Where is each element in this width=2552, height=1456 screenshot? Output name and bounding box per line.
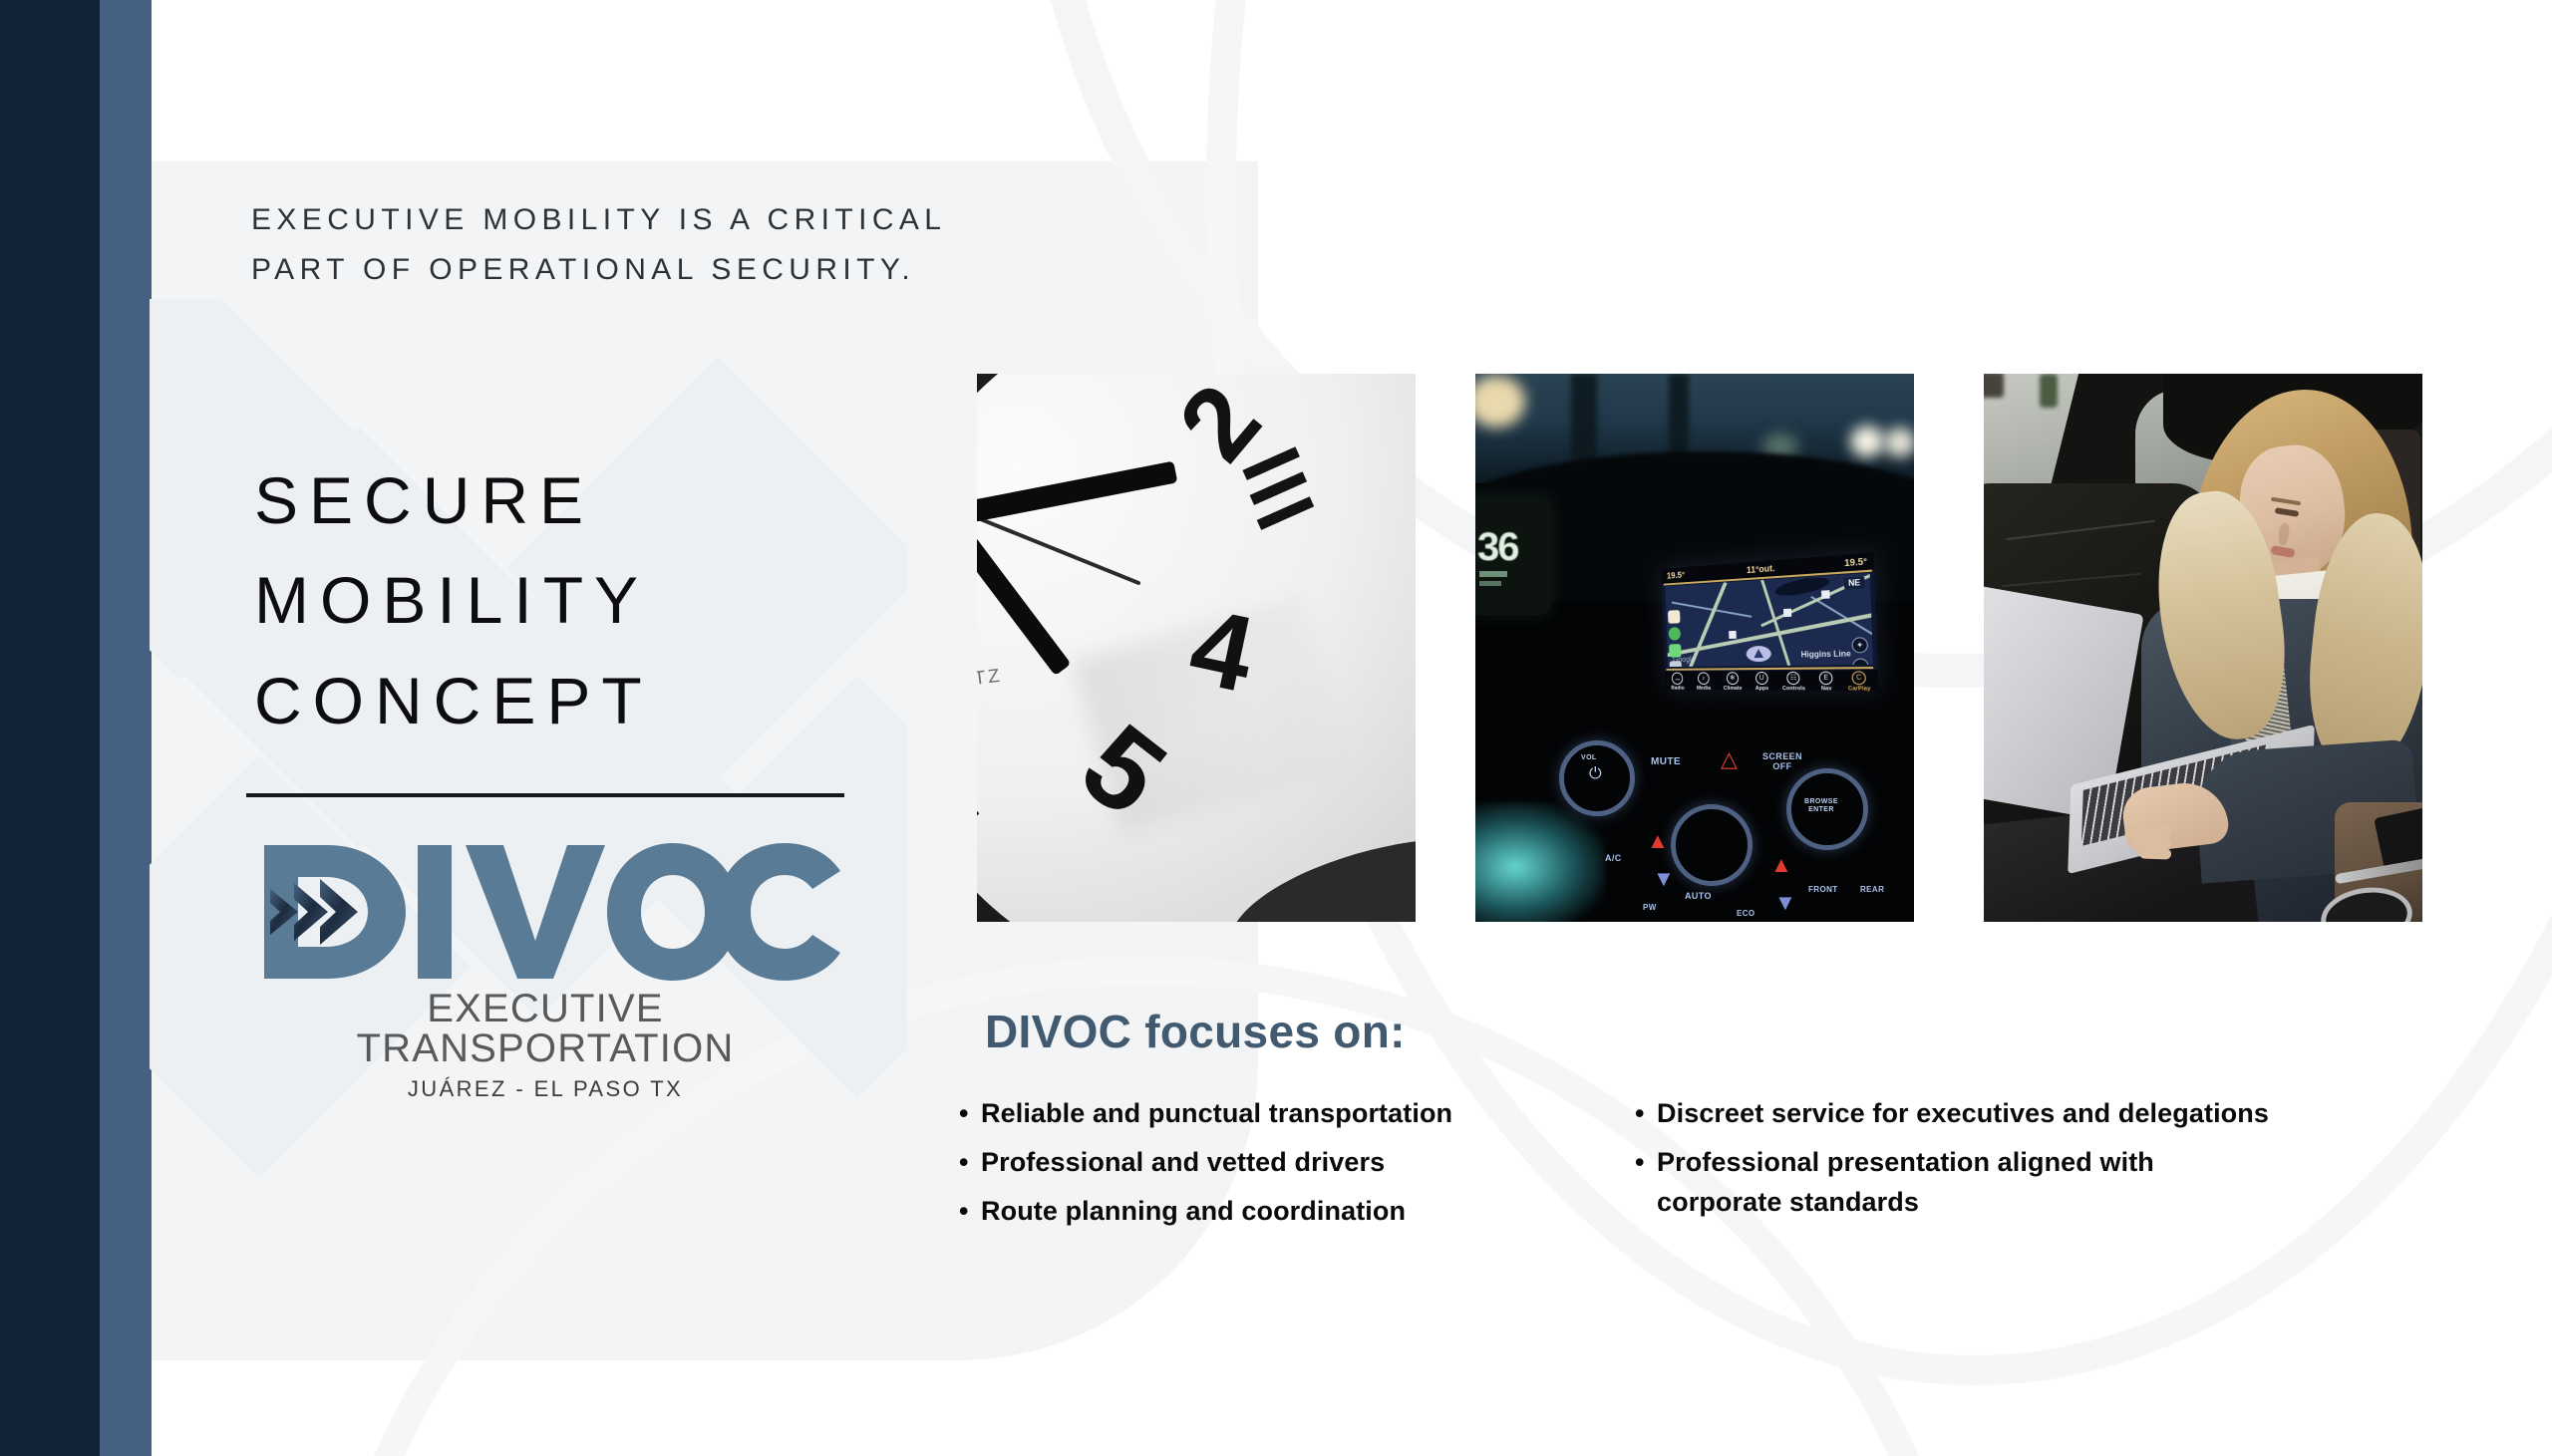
street-light-bokeh (1884, 428, 1914, 457)
gear-shifter-glow (1475, 802, 1605, 922)
voice-search-icon[interactable]: ● (1852, 658, 1869, 667)
compass-heading-badge: NE (1844, 576, 1865, 589)
dock-item-media[interactable]: ♪ Media (1696, 672, 1711, 691)
volume-label: VOL (1581, 754, 1597, 762)
temp-down-icon[interactable]: ▼ (1653, 868, 1675, 890)
photo-analog-clock: 1 2 4 5 5 QUARTZ (977, 374, 1416, 922)
infotainment-screen[interactable]: 19.5° 11°out. 19.5° (1662, 552, 1879, 691)
focus-bullets-left-column: • Reliable and punctual transportation •… (959, 1094, 1637, 1241)
front-defrost-label[interactable]: FRONT (1808, 886, 1838, 895)
dock-item-climate[interactable]: ❄ Climate (1723, 672, 1742, 691)
dashboard-scene: 36 19.5° 11°out. 19.5° (1475, 374, 1914, 922)
finger (2139, 847, 2171, 859)
media-icon: ♪ (1698, 672, 1710, 685)
climate-icon: ❄ (1727, 672, 1739, 685)
hazard-lights-icon[interactable] (1719, 750, 1745, 772)
cluster-speed-reading: 36 (1477, 525, 1518, 570)
clock-brand-label: QUARTZ (977, 666, 1004, 699)
cluster-indicator (1479, 581, 1501, 586)
carplay-app-icon[interactable] (1670, 661, 1682, 667)
focus-section-heading: DIVOC focuses on: (985, 1005, 1406, 1058)
dock-item-nav[interactable]: E Nav (1819, 672, 1833, 692)
clock-hand-shadow (1072, 596, 1351, 834)
carplay-icon: C (1851, 671, 1866, 685)
left-steel-bar (100, 0, 152, 1456)
presentation-slide: EXECUTIVE MOBILITY IS A CRITICAL PART OF… (0, 0, 2552, 1456)
divoc-wordmark-icon (246, 837, 844, 987)
photo-executive-passenger (1984, 374, 2422, 922)
focus-bullets-right-column: • Discreet service for executives and de… (1635, 1094, 2462, 1232)
list-item: • Professional and vetted drivers (959, 1143, 1637, 1183)
title-divider (246, 793, 844, 797)
rear-defrost-label[interactable]: REAR (1860, 886, 1884, 895)
screen-off-label[interactable]: SCREEN OFF (1762, 752, 1802, 772)
list-item-label: Professional presentation aligned with c… (1657, 1143, 2462, 1223)
clock-face: 1 2 4 5 5 QUARTZ (977, 374, 1416, 922)
temp-driver: 19.5° (1667, 570, 1685, 581)
dock-item-radio[interactable]: ⚊ Radio (1671, 673, 1685, 692)
photo-car-dashboard: 36 19.5° 11°out. 19.5° (1475, 374, 1914, 922)
auto-label[interactable]: AUTO (1685, 892, 1712, 902)
outside-object (1984, 374, 2004, 398)
dock-item-carplay[interactable]: C CarPlay (1847, 671, 1870, 691)
list-item: • Discreet service for executives and de… (1635, 1094, 2462, 1134)
list-item-label: Route planning and coordination (981, 1192, 1637, 1232)
power-icon[interactable]: ⏻ (1589, 766, 1602, 782)
ac-label[interactable]: A/C (1605, 854, 1622, 864)
street-light-bokeh (1850, 426, 1884, 457)
divoc-logo: EXECUTIVE TRANSPORTATION JUÁREZ - EL PAS… (246, 837, 844, 1100)
recenter-map-icon[interactable]: ✦ (1851, 637, 1868, 653)
eco-label[interactable]: ECO (1737, 910, 1755, 919)
bullet-icon: • (959, 1143, 981, 1183)
cluster-indicator (1479, 571, 1507, 577)
temp-outside: 11°out. (1747, 563, 1775, 575)
apps-icon: U (1755, 672, 1768, 685)
infotainment-dock: ⚊ Radio ♪ Media ❄ Climate U (1665, 670, 1879, 691)
list-item: • Route planning and coordination (959, 1192, 1637, 1232)
temperature-knob[interactable] (1671, 804, 1753, 886)
bullet-icon: • (959, 1192, 981, 1232)
radio-icon: ⚊ (1672, 673, 1684, 685)
bullet-icon: • (959, 1094, 981, 1134)
phone-icon[interactable] (1669, 644, 1681, 657)
instrument-cluster: 36 (1475, 497, 1551, 615)
list-item-label: Professional and vetted drivers (981, 1143, 1637, 1183)
power-window-label[interactable]: PW (1643, 904, 1657, 913)
left-navy-bar (0, 0, 100, 1456)
browse-enter-label: BROWSE ENTER (1804, 798, 1838, 813)
temp-up-icon[interactable]: ▲ (1647, 830, 1669, 852)
map-junction-marker (1729, 631, 1737, 639)
dock-item-controls[interactable]: ☷ Controls (1781, 672, 1805, 692)
clock-numeral-1: 1 (1049, 374, 1154, 380)
carplay-app-icon[interactable] (1669, 627, 1681, 641)
clock-tick-mark (1250, 471, 1307, 505)
logo-tagline: EXECUTIVE TRANSPORTATION (246, 989, 844, 1068)
temp-up-icon[interactable]: ▲ (1770, 854, 1792, 876)
list-item: • Professional presentation aligned with… (1635, 1143, 2462, 1223)
dock-item-apps[interactable]: U Apps (1754, 672, 1768, 692)
map-highway (1681, 582, 1728, 667)
clock-tick-mark (1257, 496, 1314, 530)
vehicle-position-marker (1746, 646, 1771, 662)
map-road-label: Higgins Line (1800, 649, 1850, 659)
window-pillar (1571, 374, 1597, 469)
list-item-label: Discreet service for executives and dele… (1657, 1094, 2462, 1134)
slide-kicker-headline: EXECUTIVE MOBILITY IS A CRITICAL PART OF… (251, 195, 1248, 295)
clock-minute-hand (977, 461, 1177, 527)
map-junction-marker (1821, 590, 1830, 599)
list-item: • Reliable and punctual transportation (959, 1094, 1637, 1134)
mute-label[interactable]: MUTE (1651, 756, 1681, 767)
bullet-icon: • (1635, 1094, 1657, 1134)
navigation-map[interactable]: NE Google Higgins Line ✦ ● (1666, 573, 1873, 667)
temp-down-icon[interactable]: ▼ (1774, 892, 1796, 914)
page-title: SECURE MOBILITY CONCEPT (254, 450, 852, 750)
clock-hour-hand (977, 504, 1071, 676)
logo-location: JUÁREZ - EL PASO TX (246, 1078, 844, 1100)
bullet-icon: • (1635, 1143, 1657, 1183)
map-junction-marker (1783, 609, 1791, 617)
carplay-app-icon[interactable] (1668, 610, 1680, 624)
controls-icon: ☷ (1786, 672, 1800, 685)
temp-passenger: 19.5° (1844, 556, 1867, 568)
car-cabin-scene (1984, 374, 2422, 922)
list-item-label: Reliable and punctual transportation (981, 1094, 1637, 1134)
outside-object (2040, 374, 2058, 408)
clock-numeral-5-edge: 5 (977, 759, 998, 885)
nav-icon: E (1819, 672, 1833, 686)
